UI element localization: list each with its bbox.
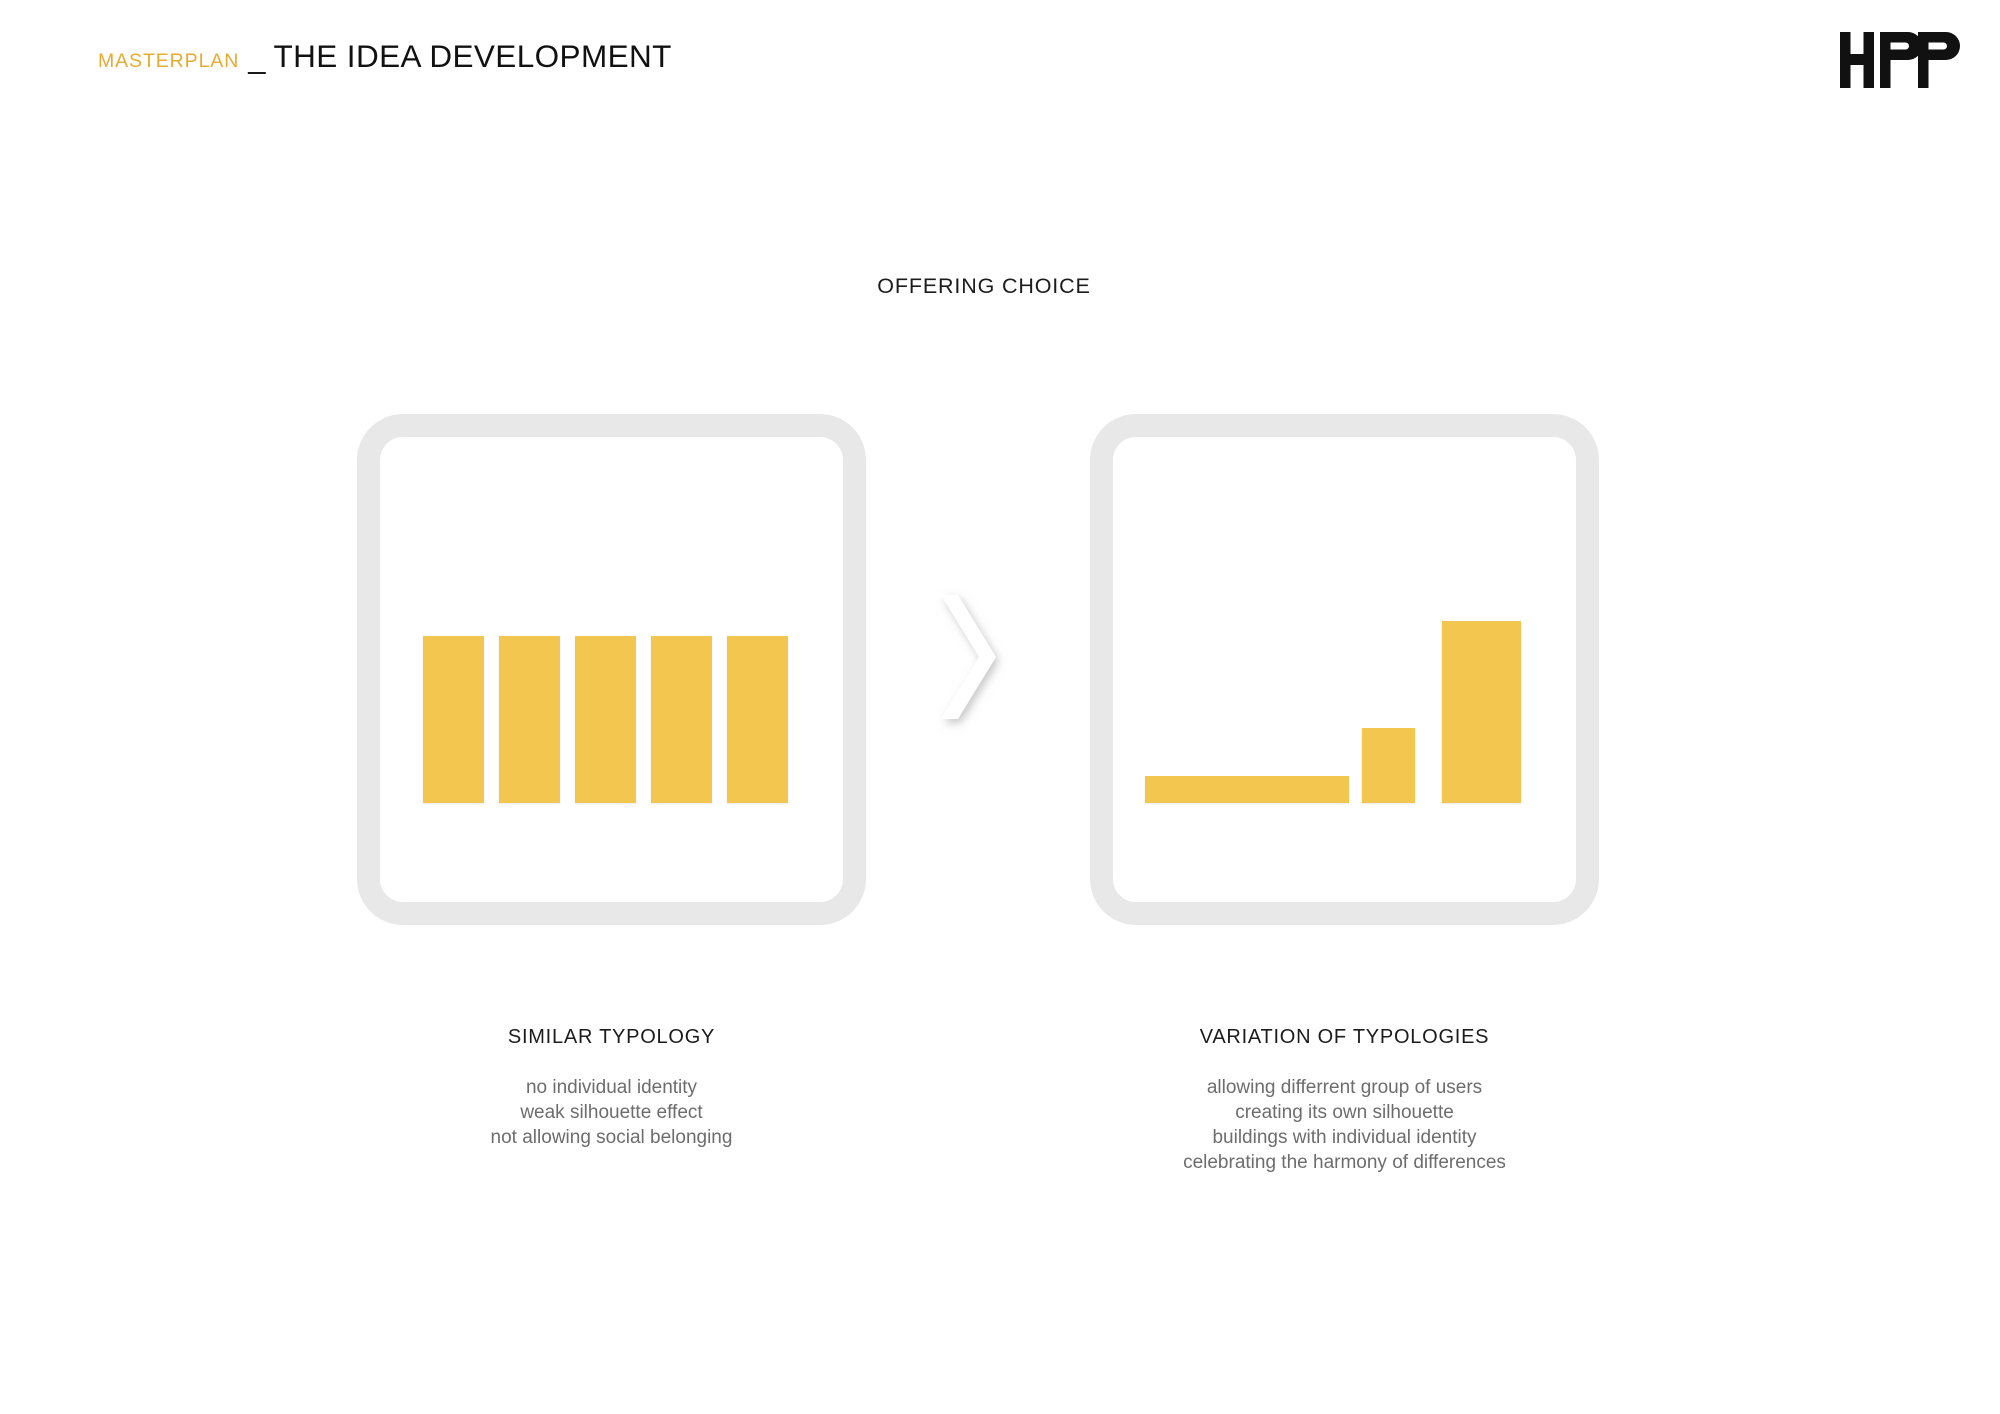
caption-heading-right: VARIATION OF TYPOLOGIES bbox=[1090, 1025, 1599, 1049]
panel-similar-typology bbox=[357, 414, 866, 925]
caption-line: allowing differrent group of users bbox=[1090, 1075, 1599, 1100]
caption-body-right: allowing differrent group of users creat… bbox=[1090, 1075, 1599, 1175]
caption-variation-of-typologies: VARIATION OF TYPOLOGIES allowing differr… bbox=[1090, 1025, 1599, 1175]
caption-similar-typology: SIMILAR TYPOLOGY no individual identity … bbox=[357, 1025, 866, 1150]
comparison-diagram: SIMILAR TYPOLOGY no individual identity … bbox=[0, 0, 2000, 1414]
bar-uniform-4 bbox=[651, 636, 712, 803]
caption-line: not allowing social belonging bbox=[357, 1125, 866, 1150]
bar-varied-1 bbox=[1145, 776, 1349, 803]
bar-uniform-1 bbox=[423, 636, 484, 803]
slide-canvas: MASTERPLAN _ THE IDEA DEVELOPMENT OFFERI… bbox=[0, 0, 2000, 1414]
panel-variation-of-typologies bbox=[1090, 414, 1599, 925]
caption-line: creating its own silhouette bbox=[1090, 1100, 1599, 1125]
bar-varied-2 bbox=[1362, 728, 1415, 803]
caption-heading-left: SIMILAR TYPOLOGY bbox=[357, 1025, 866, 1049]
similar-typology-diagram bbox=[380, 437, 843, 902]
caption-body-left: no individual identity weak silhouette e… bbox=[357, 1075, 866, 1150]
caption-line: celebrating the harmony of differences bbox=[1090, 1150, 1599, 1175]
chevron-right-icon bbox=[930, 585, 1010, 745]
bar-uniform-5 bbox=[727, 636, 788, 803]
bar-uniform-3 bbox=[575, 636, 636, 803]
bar-uniform-2 bbox=[499, 636, 560, 803]
caption-line: weak silhouette effect bbox=[357, 1100, 866, 1125]
caption-line: no individual identity bbox=[357, 1075, 866, 1100]
bar-varied-3 bbox=[1442, 621, 1521, 803]
caption-line: buildings with individual identity bbox=[1090, 1125, 1599, 1150]
variation-of-typologies-diagram bbox=[1113, 437, 1576, 902]
